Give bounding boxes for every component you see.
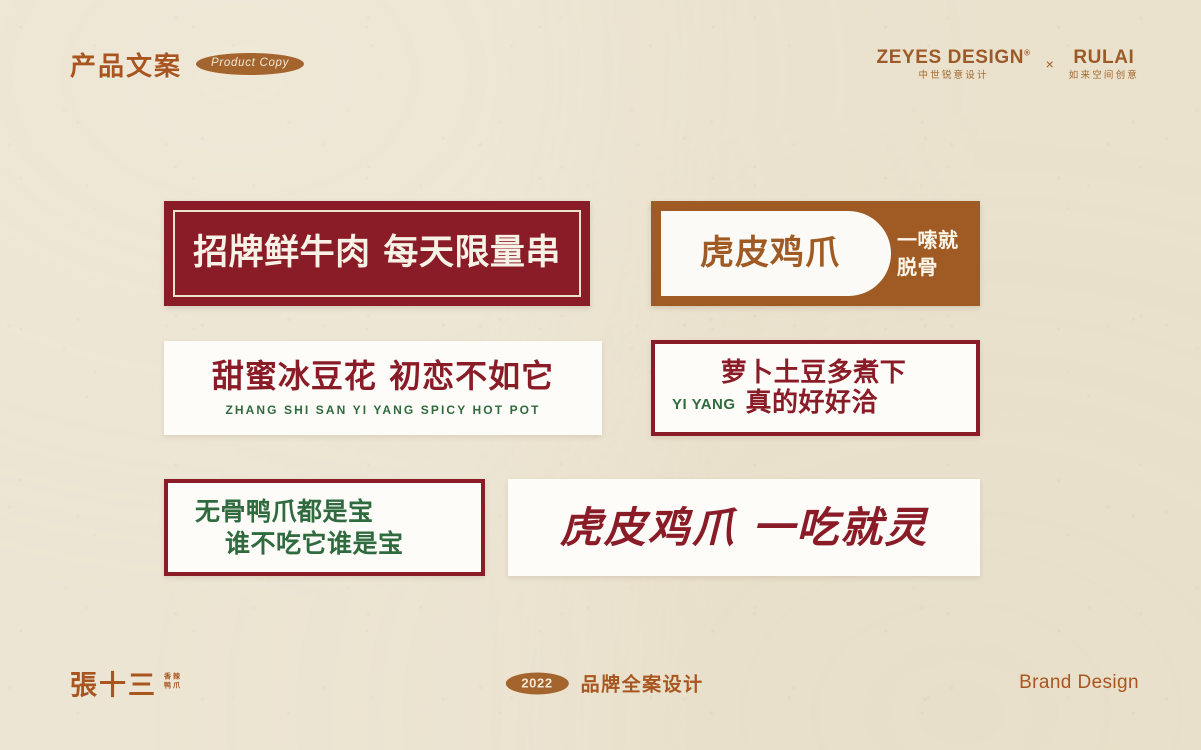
banner-chicken-feet-charm: 虎皮鸡爪 一吃就灵 — [508, 479, 980, 576]
banner-duck-feet-line2: 谁不吃它谁是宝 — [171, 530, 478, 557]
banner-duck-feet-line1: 无骨鸭爪都是宝 — [171, 498, 478, 525]
banner-chicken-feet-side-line1: 一嗦就 — [897, 228, 959, 252]
page-footer: 張十三 香 辣 鸭 爪 2022 品牌全案设计 Brand Design — [70, 660, 1139, 706]
banner-chicken-feet-main-text: 虎皮鸡爪 — [700, 235, 840, 272]
footer-center-group: 2022 品牌全案设计 — [505, 670, 703, 697]
banner-signature-beef: 招牌鲜牛肉 每天限量串 — [164, 201, 590, 306]
header-title-group: 产品文案 Product Copy — [70, 46, 304, 83]
footer-center-label: 品牌全案设计 — [581, 670, 704, 697]
page-header: 产品文案 Product Copy ZEYES DESIGN® 中世锐意设计 ×… — [70, 40, 1139, 88]
logo-zeyes-main: ZEYES DESIGN® — [876, 48, 1030, 67]
seal-char-2: 辣 — [173, 674, 180, 681]
registered-trademark-icon: ® — [1024, 48, 1031, 57]
footer-right-label: Brand Design — [1019, 672, 1139, 694]
seal-char-3: 鸭 — [164, 682, 171, 689]
footer-brand-logo: 張十三 香 辣 鸭 爪 — [70, 664, 180, 703]
banner-chicken-feet-side-text: 一嗦就 脱骨 — [897, 227, 959, 281]
banner-chicken-feet-side-line2: 脱骨 — [897, 254, 959, 281]
logo-zeyes-sub: 中世锐意设计 — [918, 71, 988, 81]
banner-radish-potato-line1: 萝卜土豆多煮下 — [656, 359, 971, 387]
banner-radish-potato: 萝卜土豆多煮下 YI YANG 真的好好洽 — [651, 340, 980, 436]
banner-bean-jelly-text: 甜蜜冰豆花 初恋不如它 — [212, 359, 554, 394]
banner-radish-potato-inner-frame: 萝卜土豆多煮下 YI YANG 真的好好洽 — [658, 347, 973, 429]
banner-signature-beef-text: 招牌鲜牛肉 每天限量串 — [193, 235, 561, 273]
page-title-pill-badge: Product Copy — [196, 53, 304, 76]
banner-chicken-feet-pill-shape: 虎皮鸡爪 — [661, 211, 891, 296]
footer-brand-seal-icon: 香 辣 鸭 爪 — [164, 674, 180, 693]
logo-zeyes-design: ZEYES DESIGN® 中世锐意设计 — [876, 48, 1030, 81]
banner-chicken-feet-charm-text: 虎皮鸡爪 一吃就灵 — [560, 505, 929, 550]
logo-rulai-sub: 如来空间创意 — [1069, 71, 1139, 81]
banner-chicken-feet: 虎皮鸡爪 一嗦就 脱骨 — [651, 201, 980, 306]
seal-char-1: 香 — [164, 674, 171, 681]
banner-duck-feet: 无骨鸭爪都是宝 谁不吃它谁是宝 — [164, 479, 485, 576]
logo-separator-x-icon: × — [1046, 56, 1054, 72]
banner-bean-jelly-pinyin-subtitle: ZHANG SHI SAN YI YANG SPICY HOT POT — [225, 403, 540, 417]
logo-rulai: RULAI 如来空间创意 — [1069, 48, 1139, 81]
footer-year-badge: 2022 — [505, 672, 568, 694]
banner-radish-potato-line2: 真的好好洽 — [746, 389, 879, 417]
header-logo-group: ZEYES DESIGN® 中世锐意设计 × RULAI 如来空间创意 — [876, 48, 1139, 81]
logo-zeyes-main-text: ZEYES DESIGN — [876, 47, 1024, 68]
seal-char-4: 爪 — [173, 682, 180, 689]
banner-bean-jelly: 甜蜜冰豆花 初恋不如它 ZHANG SHI SAN YI YANG SPICY … — [164, 341, 602, 435]
banner-radish-potato-tag: YI YANG — [672, 396, 736, 417]
banner-duck-feet-inner-frame: 无骨鸭爪都是宝 谁不吃它谁是宝 — [171, 486, 478, 569]
page-title: 产品文案 — [70, 46, 182, 83]
logo-rulai-main: RULAI — [1073, 48, 1134, 67]
footer-brand-name: 張十三 — [70, 664, 157, 703]
banner-radish-potato-line2-row: YI YANG 真的好好洽 — [658, 389, 973, 417]
